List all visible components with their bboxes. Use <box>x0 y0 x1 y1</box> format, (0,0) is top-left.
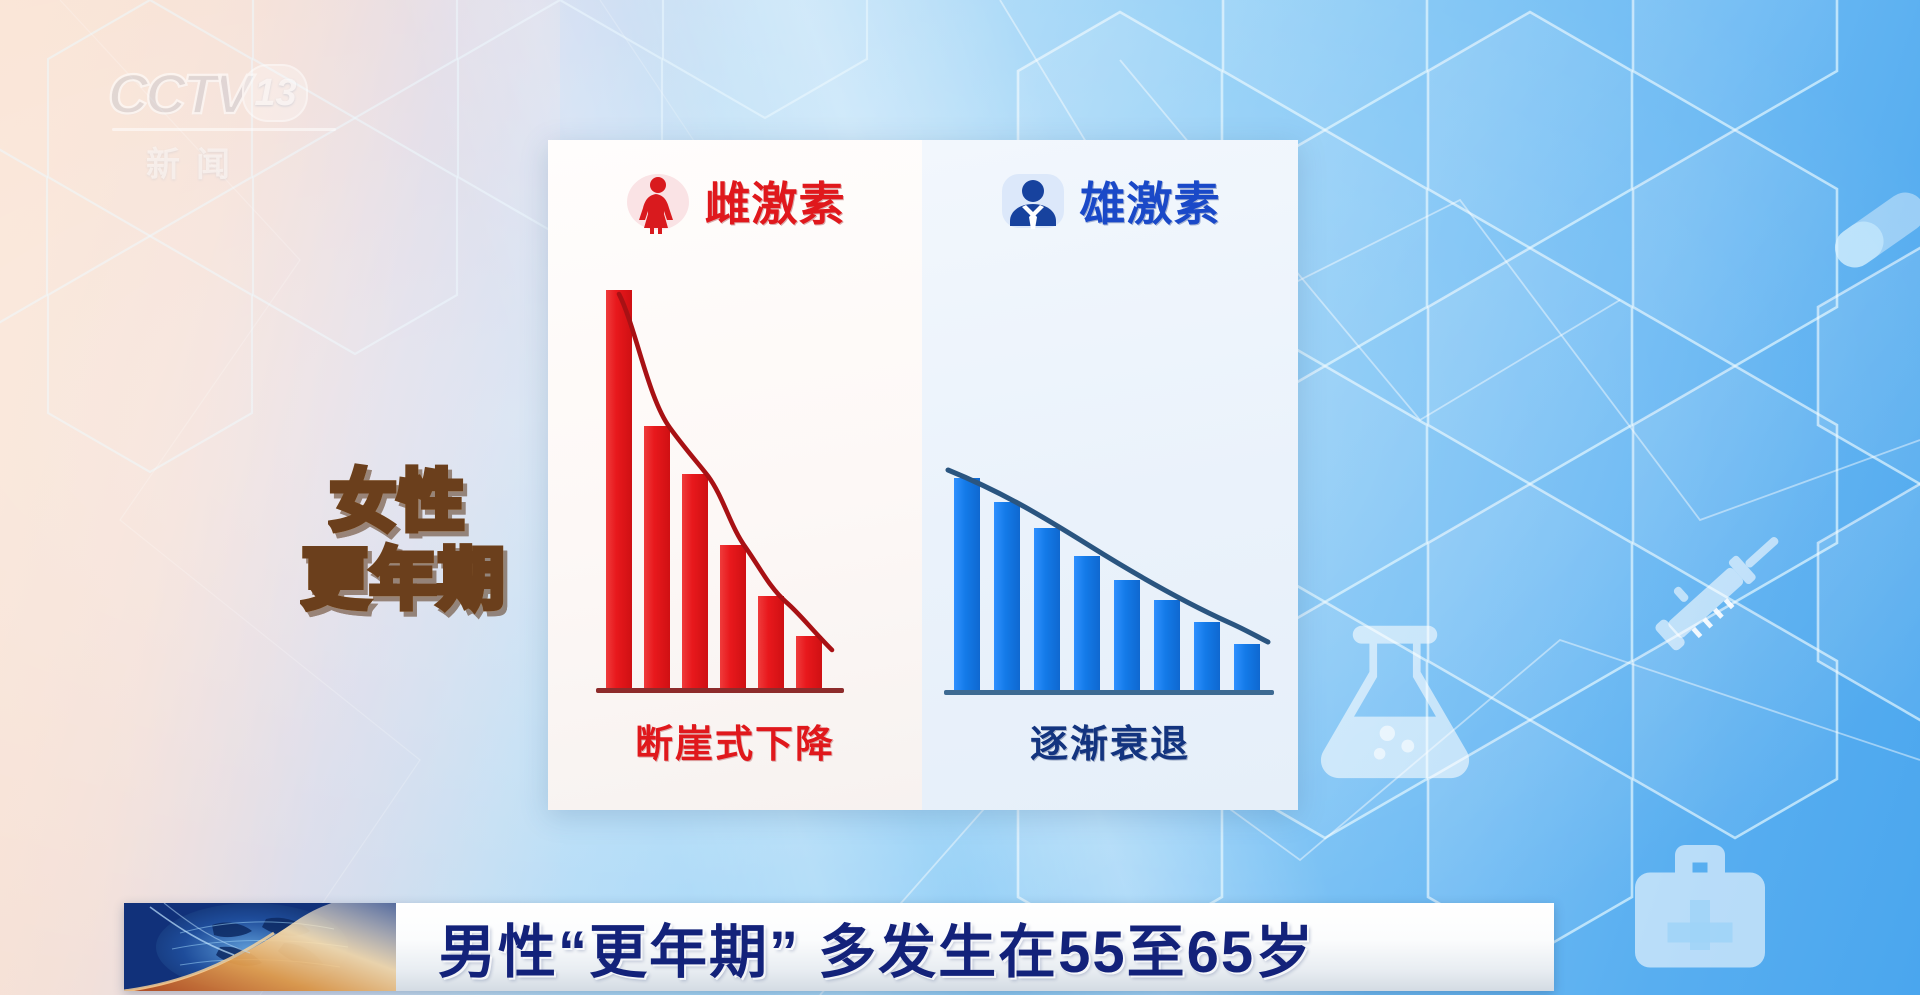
cctv-wordmark: CCTV <box>108 61 248 126</box>
androgen-header: 雄激素 <box>922 168 1298 234</box>
estrogen-title: 雌激素 <box>705 168 846 234</box>
hormone-comparison-panel: 雌激素 <box>548 140 1298 810</box>
gold-headline-line-1: 女性 <box>330 468 506 534</box>
androgen-bars <box>954 478 1260 690</box>
androgen-title: 雄激素 <box>1080 168 1221 234</box>
gold-headline-text-2: 更年期 <box>302 546 506 612</box>
androgen-baseline <box>944 690 1274 695</box>
news-banner: 男性“更年期” 多发生在55至65岁 <box>124 903 1554 991</box>
estrogen-bar-chart <box>548 258 922 708</box>
cctv-channel-logo: CCTV 13 新闻 <box>108 60 368 170</box>
channel-number-badge: 13 <box>242 64 308 122</box>
estrogen-pane: 雌激素 <box>548 140 922 810</box>
female-figure-icon <box>625 168 691 234</box>
news-headline: 男性“更年期” 多发生在55至65岁 <box>438 905 1315 989</box>
logo-underline <box>112 128 336 131</box>
news-banner-text-area: 男性“更年期” 多发生在55至65岁 <box>396 903 1554 991</box>
estrogen-baseline <box>596 688 844 693</box>
gold-headline-text-1: 女性 <box>330 468 466 534</box>
news-globe-icon <box>124 903 396 991</box>
androgen-bar-chart <box>922 440 1298 710</box>
channel-number: 13 <box>254 72 296 115</box>
gold-headline-line-2: 更年期 <box>302 546 506 612</box>
channel-name-cn: 新闻 <box>146 137 368 186</box>
gold-headline: 女性 更年期 <box>330 468 506 612</box>
estrogen-header: 雌激素 <box>548 168 922 234</box>
androgen-pane: 雄激素 <box>922 140 1298 810</box>
androgen-footer-label: 逐渐衰退 <box>922 713 1298 768</box>
male-businessman-icon <box>1000 168 1066 234</box>
estrogen-footer-label: 断崖式下降 <box>548 713 922 768</box>
